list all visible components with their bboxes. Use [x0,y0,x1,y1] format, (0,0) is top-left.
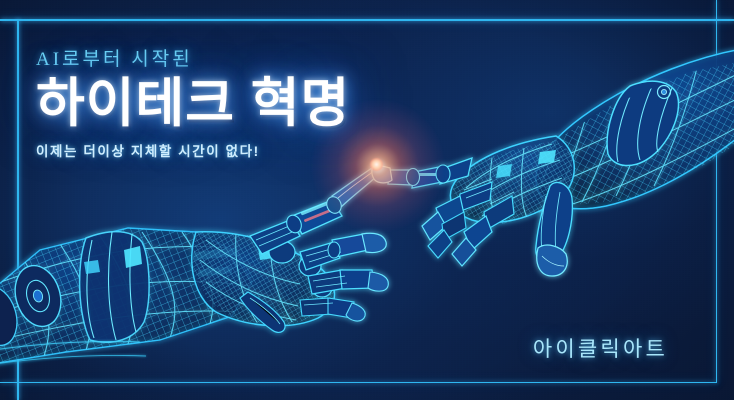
hero-banner: AI로부터 시작된 하이테크 혁명 이제는 더이상 지체할 시간이 없다! 아이… [0,0,734,400]
page-title: 하이테크 혁명 [36,77,350,131]
subtitle-text: 이제는 더이상 지체할 시간이 없다! [36,140,350,160]
headline-text-block: AI로부터 시작된 하이테크 혁명 이제는 더이상 지체할 시간이 없다! [36,44,350,160]
fingertip-touch-core [370,158,383,171]
right-robot-arm [372,40,734,276]
hand-highlight-right [538,150,556,164]
left-ring-finger [308,270,388,294]
brand-watermark: 아이클릭아트 [533,333,668,363]
eyebrow-text: AI로부터 시작된 [36,44,350,71]
left-middle-finger [300,233,386,270]
left-robot-arm [0,167,388,375]
